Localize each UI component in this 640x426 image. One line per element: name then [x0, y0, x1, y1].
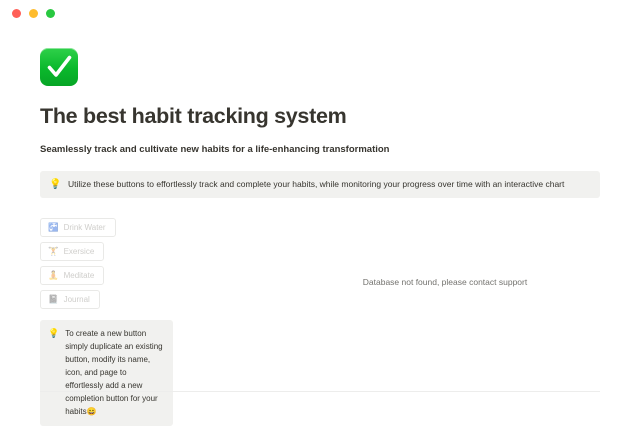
potable-water-icon: 🚰 [48, 222, 59, 233]
habit-button-list: 🚰 Drink Water 🏋️ Exersice 🧘 Meditate 📓 J… [40, 218, 290, 309]
window-traffic-lights [12, 9, 55, 18]
info-callout: 💡 Utilize these buttons to effortlessly … [40, 171, 600, 198]
habit-button-label: Drink Water [64, 222, 106, 233]
light-bulb-icon: 💡 [49, 178, 61, 191]
page-icon-check-mark-icon[interactable] [40, 48, 78, 86]
tip-callout-text: To create a new button simply duplicate … [65, 327, 165, 418]
meditation-icon: 🧘 [48, 270, 59, 281]
habit-button-drink-water[interactable]: 🚰 Drink Water [40, 218, 116, 237]
page-content: The best habit tracking system Seamlessl… [40, 26, 600, 426]
habit-button-exersice[interactable]: 🏋️ Exersice [40, 242, 104, 261]
minimize-window-button[interactable] [29, 9, 38, 18]
tip-callout: 💡 To create a new button simply duplicat… [40, 320, 173, 426]
main-columns: 🚰 Drink Water 🏋️ Exersice 🧘 Meditate 📓 J… [40, 218, 600, 426]
close-window-button[interactable] [12, 9, 21, 18]
page-subtitle: Seamlessly track and cultivate new habit… [40, 143, 600, 157]
window-titlebar [0, 0, 640, 26]
weight-lifter-icon: 🏋️ [48, 246, 59, 257]
page-title: The best habit tracking system [40, 103, 600, 129]
page-divider [40, 391, 600, 392]
habit-button-meditate[interactable]: 🧘 Meditate [40, 266, 104, 285]
habit-button-label: Exersice [64, 246, 95, 257]
page-canvas: The best habit tracking system Seamlessl… [0, 26, 640, 400]
database-error-message: Database not found, please contact suppo… [290, 276, 600, 288]
database-column: Database not found, please contact suppo… [290, 218, 600, 426]
habits-column: 🚰 Drink Water 🏋️ Exersice 🧘 Meditate 📓 J… [40, 218, 290, 426]
light-bulb-icon: 💡 [48, 327, 59, 340]
habit-button-label: Journal [64, 294, 90, 305]
info-callout-text: Utilize these buttons to effortlessly tr… [68, 178, 564, 191]
notebook-icon: 📓 [48, 294, 59, 305]
habit-button-journal[interactable]: 📓 Journal [40, 290, 100, 309]
maximize-window-button[interactable] [46, 9, 55, 18]
habit-button-label: Meditate [64, 270, 95, 281]
check-mark-icon [40, 48, 78, 86]
